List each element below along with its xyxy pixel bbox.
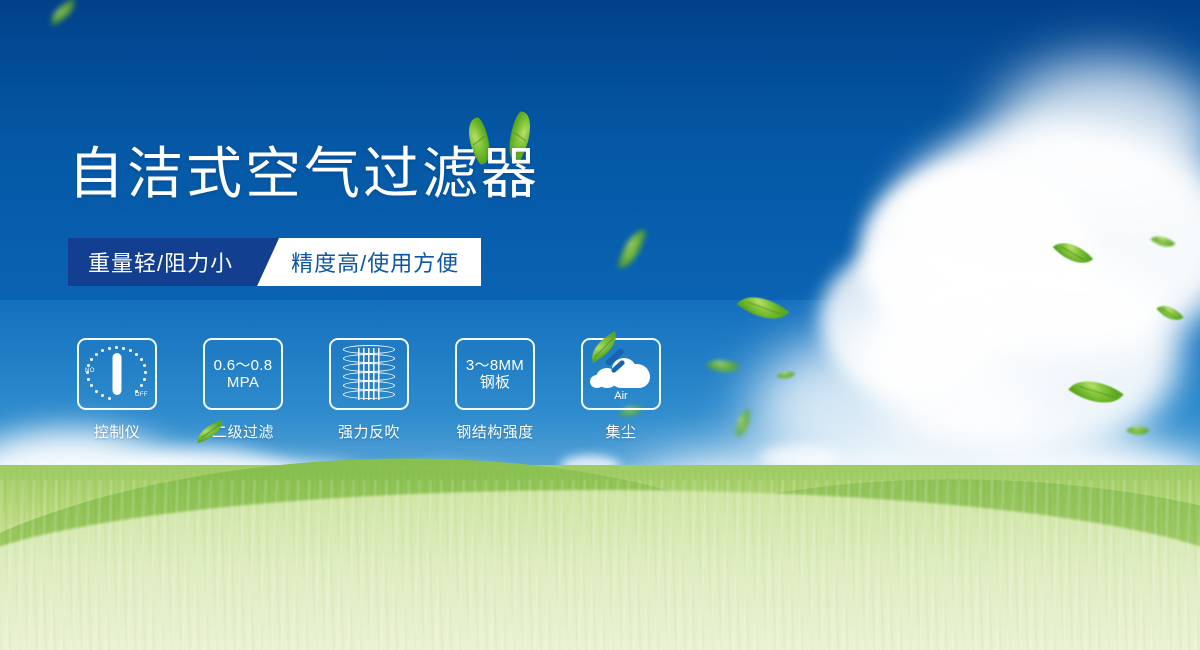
feature-item-steel-strength[interactable]: 3～8MM 钢板 钢结构强度 xyxy=(455,338,535,442)
field-streaks xyxy=(0,480,1200,650)
gauge-icon: NO OFF xyxy=(86,346,148,402)
steel-value-line1: 3～8MM xyxy=(466,357,524,374)
feature-icon-box: Air xyxy=(581,338,661,410)
steel-value-line2: 钢板 xyxy=(480,374,511,391)
feature-list: NO OFF 控制仪 0.6～0.8 MPA 二级过滤 xyxy=(77,338,661,442)
feature-label: 控制仪 xyxy=(94,421,141,442)
gauge-needle xyxy=(113,353,122,395)
gauge-off-label: OFF xyxy=(135,392,148,398)
product-banner: 自洁式空气过滤器 重量轻/阻力小 精度高/使用方便 xyxy=(0,0,1200,650)
gauge-on-label: NO xyxy=(85,368,95,374)
subtitle-left-panel: 重量轻/阻力小 xyxy=(68,238,277,286)
feature-label: 强力反吹 xyxy=(338,421,400,442)
feature-icon-box: 0.6～0.8 MPA xyxy=(203,338,283,410)
air-label: Air xyxy=(590,390,652,402)
feature-item-strong-blowback[interactable]: 强力反吹 xyxy=(329,338,409,442)
coil-filter-icon xyxy=(343,345,395,403)
feature-label: 钢结构强度 xyxy=(456,421,534,442)
feature-item-dust-collection[interactable]: Air 集尘 xyxy=(581,338,661,442)
feature-icon-box xyxy=(329,338,409,410)
feature-icon-box: NO OFF xyxy=(77,338,157,410)
subtitle-bar: 重量轻/阻力小 精度高/使用方便 xyxy=(68,238,481,286)
feature-item-control-gauge[interactable]: NO OFF 控制仪 xyxy=(77,338,157,442)
feature-label: 集尘 xyxy=(605,421,636,442)
subtitle-right-panel: 精度高/使用方便 xyxy=(257,238,481,286)
page-title: 自洁式空气过滤器 xyxy=(68,146,540,202)
cloud-air-icon: Air xyxy=(590,350,652,398)
pressure-value-line2: MPA xyxy=(227,374,259,391)
feature-icon-box: 3～8MM 钢板 xyxy=(455,338,535,410)
pressure-value-line1: 0.6～0.8 xyxy=(214,357,273,374)
cloud-puff xyxy=(590,375,604,388)
